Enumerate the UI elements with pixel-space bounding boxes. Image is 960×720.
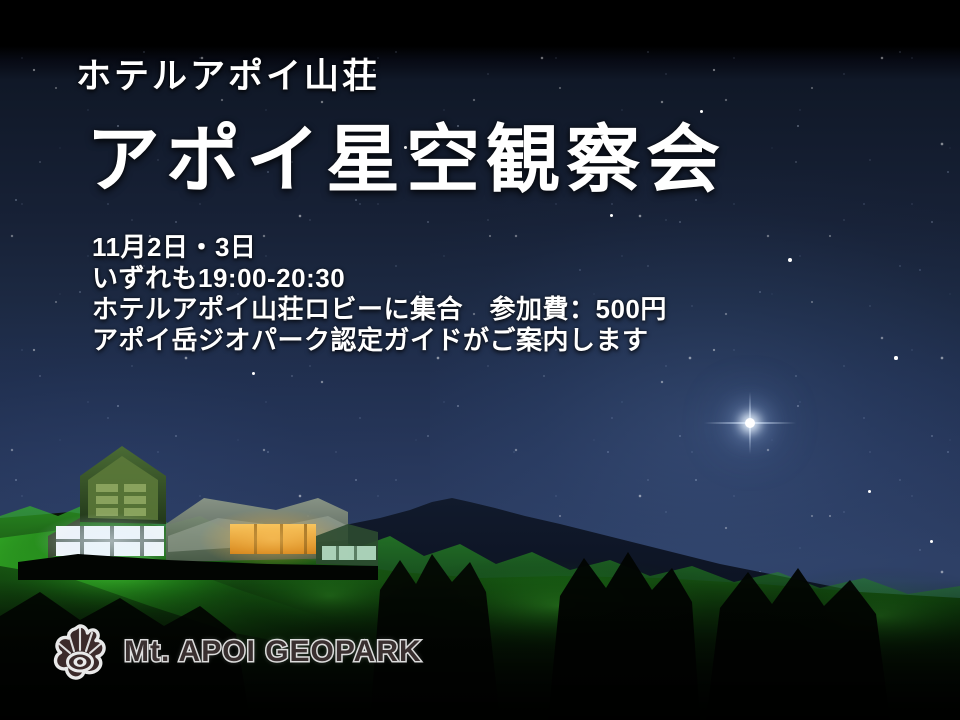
- event-detail-line-guide: アポイ岳ジオパーク認定ガイドがご案内します: [92, 325, 792, 356]
- event-detail-line-meeting-fee: ホテルアポイ山荘ロビーに集合 参加費：500円: [92, 294, 792, 325]
- geopark-logo: Mt. APOI GEOPARK: [48, 620, 422, 684]
- hotel-apoi-sanso-building: [18, 440, 378, 580]
- hotel-name-subtitle: ホテルアポイ山荘: [76, 48, 380, 99]
- event-detail-line-dates: 11月2日・3日: [92, 232, 792, 263]
- star-core: [745, 418, 755, 428]
- page-title: アポイ星空観察会: [86, 100, 726, 207]
- event-detail-line-time: いずれも19:00-20:30: [92, 263, 792, 294]
- event-details-block: 11月2日・3日 いずれも19:00-20:30 ホテルアポイ山荘ロビーに集合 …: [92, 232, 792, 356]
- apoi-flower-eye-emblem-icon: [48, 620, 112, 684]
- geopark-logo-text: Mt. APOI GEOPARK: [124, 635, 422, 669]
- bright-planet-star: [742, 415, 758, 431]
- night-sky-event-poster: ホテルアポイ山荘 アポイ星空観察会 11月2日・3日 いずれも19:00-20:…: [0, 0, 960, 720]
